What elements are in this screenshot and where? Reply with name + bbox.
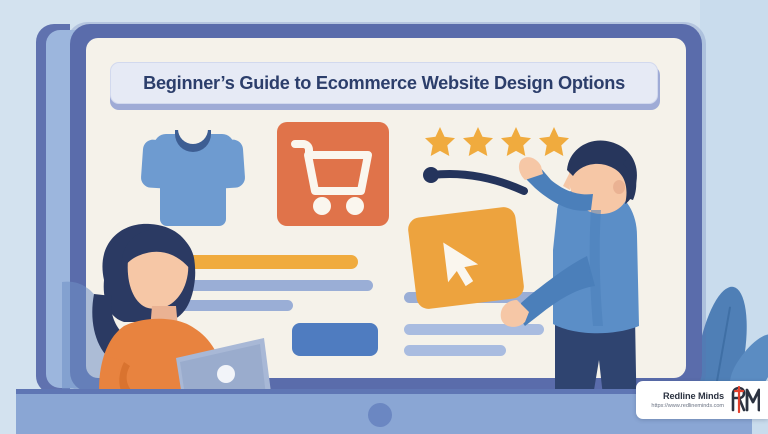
redline-minds-logo-icon <box>730 386 760 414</box>
tshirt-icon <box>142 128 244 226</box>
text-placeholder-bar <box>404 345 506 356</box>
star-icon <box>462 126 494 157</box>
laptop-trackpad-dot <box>368 403 392 427</box>
star-icon <box>424 126 456 157</box>
page-title: Beginner’s Guide to Ecommerce Website De… <box>143 73 625 94</box>
cursor-arrow-icon <box>439 235 491 292</box>
brand-name: Redline Minds <box>644 390 724 402</box>
brand-badge-texts: Redline Minds https://www.redlineminds.c… <box>644 390 730 411</box>
brand-badge[interactable]: Redline Minds https://www.redlineminds.c… <box>636 381 768 419</box>
cart-tile <box>277 122 389 226</box>
shopping-cart-icon <box>277 122 389 226</box>
illustration-canvas: Beginner’s Guide to Ecommerce Website De… <box>0 0 768 434</box>
page-title-pill: Beginner’s Guide to Ecommerce Website De… <box>110 62 658 104</box>
cta-button-block[interactable] <box>292 323 378 356</box>
brand-logo-mark <box>730 386 760 414</box>
brand-url: https://www.redlineminds.com <box>644 402 724 411</box>
